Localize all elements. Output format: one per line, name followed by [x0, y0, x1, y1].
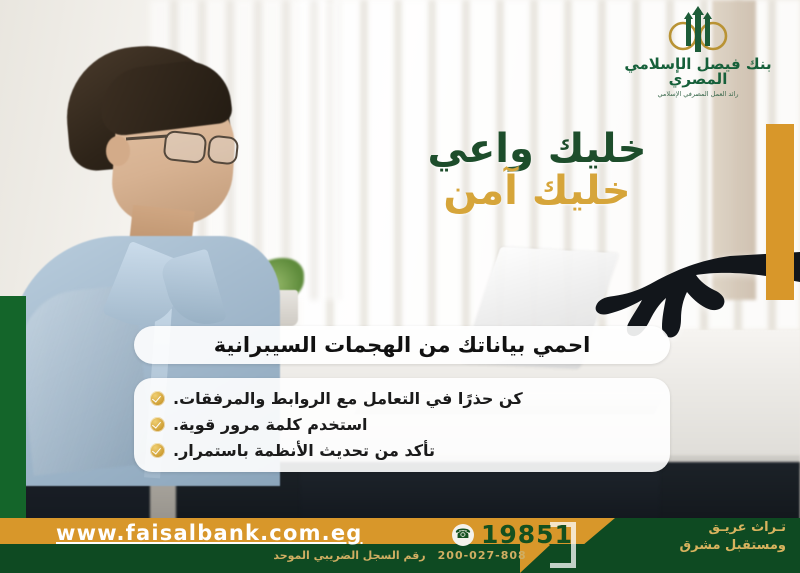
tax-registration: رقم السجل الضريبي الموحد 200-027-808: [0, 549, 800, 562]
check-circle-icon: [150, 417, 165, 432]
tips-list: كن حذرًا في التعامل مع الروابط والمرفقات…: [134, 378, 670, 472]
main-message-banner: احمي بياناتك من الهجمات السيبرانية: [134, 326, 670, 364]
headline-line-2: خليك آمن: [302, 168, 772, 214]
list-item: استخدم كلمة مرور قوية.: [150, 411, 656, 437]
phone-icon: ☎: [452, 524, 474, 546]
main-message-text: احمي بياناتك من الهجمات السيبرانية: [214, 333, 591, 357]
eyeglasses-lens-left: [163, 130, 208, 164]
tip-text: كن حذرًا في التعامل مع الروابط والمرفقات…: [173, 389, 523, 408]
headline-block: خليك واعي خليك آمن: [302, 126, 772, 214]
bank-logo-name: بنك فيصل الإسلامي المصري: [614, 57, 782, 87]
bank-logo-mark-icon: [614, 6, 782, 56]
bank-logo-subtitle: رائد العمل المصرفي الإسلامي: [614, 90, 782, 98]
advertisement-poster: بنك فيصل الإسلامي المصري رائد العمل المص…: [0, 0, 800, 573]
check-circle-icon: [150, 443, 165, 458]
slogan-line-1: تـراث عريـق: [616, 519, 786, 537]
headline-line-1: خليك واعي: [302, 126, 772, 172]
person-ear: [106, 136, 130, 166]
tax-number: 200-027-808: [438, 549, 527, 562]
tip-text: تأكد من تحديث الأنظمة باستمرار.: [173, 441, 435, 460]
tip-text: استخدم كلمة مرور قوية.: [173, 415, 368, 434]
bank-logo: بنك فيصل الإسلامي المصري رائد العمل المص…: [614, 6, 782, 92]
hotline-number: 19851: [481, 520, 573, 549]
list-item: كن حذرًا في التعامل مع الروابط والمرفقات…: [150, 385, 656, 411]
check-circle-icon: [150, 391, 165, 406]
eyeglasses-lens-right: [207, 135, 240, 166]
hotline[interactable]: 19851 ☎: [452, 520, 573, 549]
left-green-accent-bar: [0, 296, 26, 526]
website-link[interactable]: www.faisalbank.com.eg: [56, 521, 363, 545]
tax-label: رقم السجل الضريبي الموحد: [273, 549, 425, 562]
list-item: تأكد من تحديث الأنظمة باستمرار.: [150, 437, 656, 463]
